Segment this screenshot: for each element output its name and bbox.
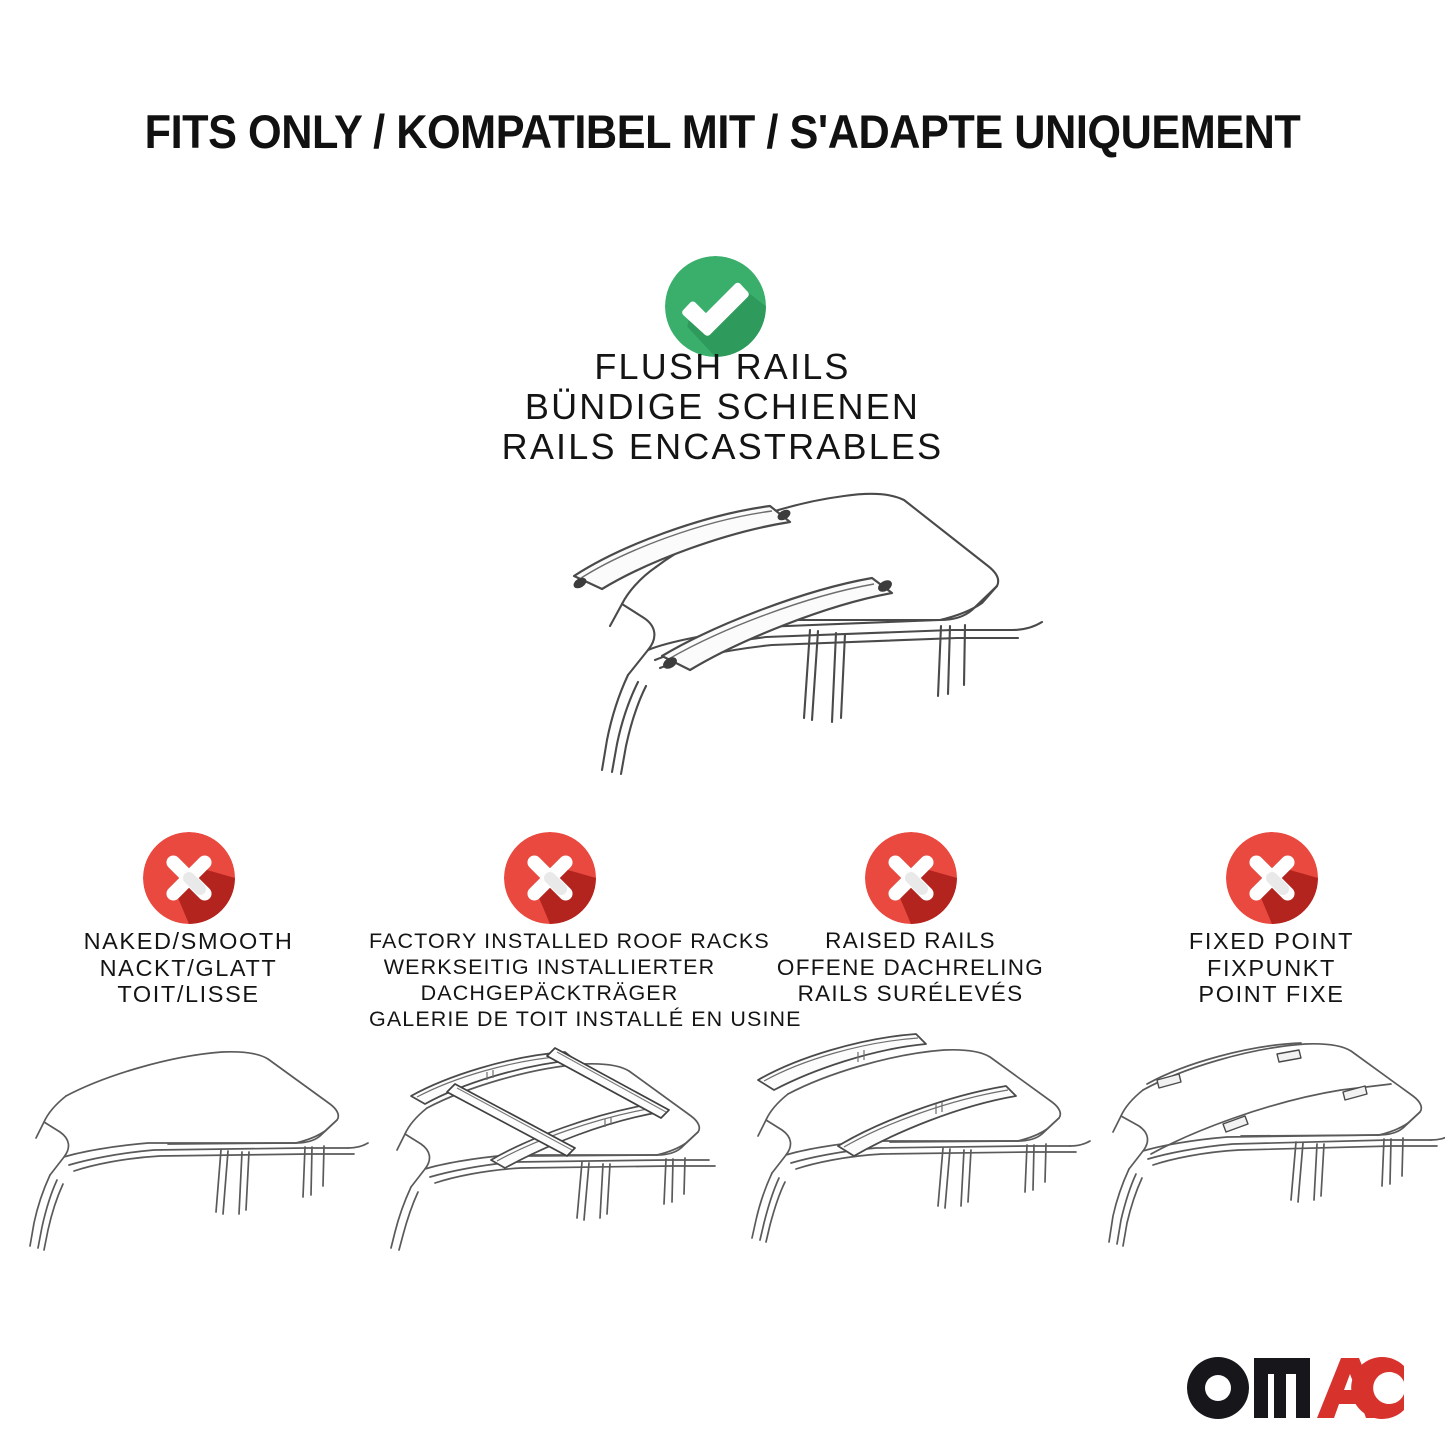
badge-wrap xyxy=(8,818,369,928)
red-x-circle-icon xyxy=(504,832,596,924)
car-roof-naked-smooth-illustration xyxy=(8,1034,369,1254)
label-line: RAILS SURÉLEVÉS xyxy=(730,981,1091,1008)
label-line: OFFENE DACHRELING xyxy=(730,955,1091,982)
label-line: NACKT/GLATT xyxy=(8,955,369,982)
compatible-label-line-3: RAILS ENCASTRABLES xyxy=(0,427,1445,467)
red-x-circle-icon xyxy=(1226,832,1318,924)
incompatible-label-fixed-point: FIXED POINT FIXPUNKT POINT FIXE xyxy=(1091,928,1445,1008)
page-title: FITS ONLY / KOMPATIBEL MIT / S'ADAPTE UN… xyxy=(58,104,1387,159)
label-line: GALERIE DE TOIT INSTALLÉ EN USINE xyxy=(369,1006,730,1032)
incompatible-label-raised-rails: RAISED RAILS OFFENE DACHRELING RAILS SUR… xyxy=(730,928,1091,1008)
omac-logo xyxy=(1186,1354,1404,1422)
badge-wrap xyxy=(730,818,1091,928)
label-line: NAKED/SMOOTH xyxy=(8,928,369,955)
incompatible-item-factory-installed-roof-racks: FACTORY INSTALLED ROOF RACKS WERKSEITIG … xyxy=(369,818,730,1254)
label-line: FACTORY INSTALLED ROOF RACKS xyxy=(369,928,730,954)
label-line: FIXPUNKT xyxy=(1091,955,1445,982)
label-line: DACHGEPÄCKTRÄGER xyxy=(369,980,730,1006)
compatible-label-line-1: FLUSH RAILS xyxy=(0,347,1445,387)
incompatible-item-naked-smooth: NAKED/SMOOTH NACKT/GLATT TOIT/LISSE xyxy=(8,818,369,1254)
logo-letter-o xyxy=(1187,1357,1249,1419)
label-line: WERKSEITIG INSTALLIERTER xyxy=(369,954,730,980)
compatible-label-group: FLUSH RAILS BÜNDIGE SCHIENEN RAILS ENCAS… xyxy=(0,347,1445,467)
badge-wrap xyxy=(369,818,730,928)
red-x-circle-icon xyxy=(865,832,957,924)
incompatible-options-grid: NAKED/SMOOTH NACKT/GLATT TOIT/LISSE xyxy=(0,818,1445,1218)
green-check-circle-icon xyxy=(665,256,766,357)
incompatible-item-raised-rails: RAISED RAILS OFFENE DACHRELING RAILS SUR… xyxy=(730,818,1091,1244)
badge-wrap xyxy=(1091,818,1445,928)
car-roof-factory-roof-racks-illustration xyxy=(369,1034,730,1254)
car-roof-with-flush-rails-illustration xyxy=(452,470,1046,800)
label-line: FIXED POINT xyxy=(1091,928,1445,955)
car-roof-raised-rails-illustration xyxy=(730,1024,1091,1244)
label-line: TOIT/LISSE xyxy=(8,981,369,1008)
red-x-circle-icon xyxy=(143,832,235,924)
label-line: POINT FIXE xyxy=(1091,981,1445,1008)
incompatible-label-factory-installed-roof-racks: FACTORY INSTALLED ROOF RACKS WERKSEITIG … xyxy=(369,928,730,1032)
incompatible-label-naked-smooth: NAKED/SMOOTH NACKT/GLATT TOIT/LISSE xyxy=(8,928,369,1008)
car-roof-fixed-point-illustration xyxy=(1091,1034,1445,1254)
label-line: RAISED RAILS xyxy=(730,928,1091,955)
compatible-label-line-2: BÜNDIGE SCHIENEN xyxy=(0,387,1445,427)
logo-letter-m xyxy=(1254,1358,1310,1418)
incompatible-item-fixed-point: FIXED POINT FIXPUNKT POINT FIXE xyxy=(1091,818,1445,1254)
